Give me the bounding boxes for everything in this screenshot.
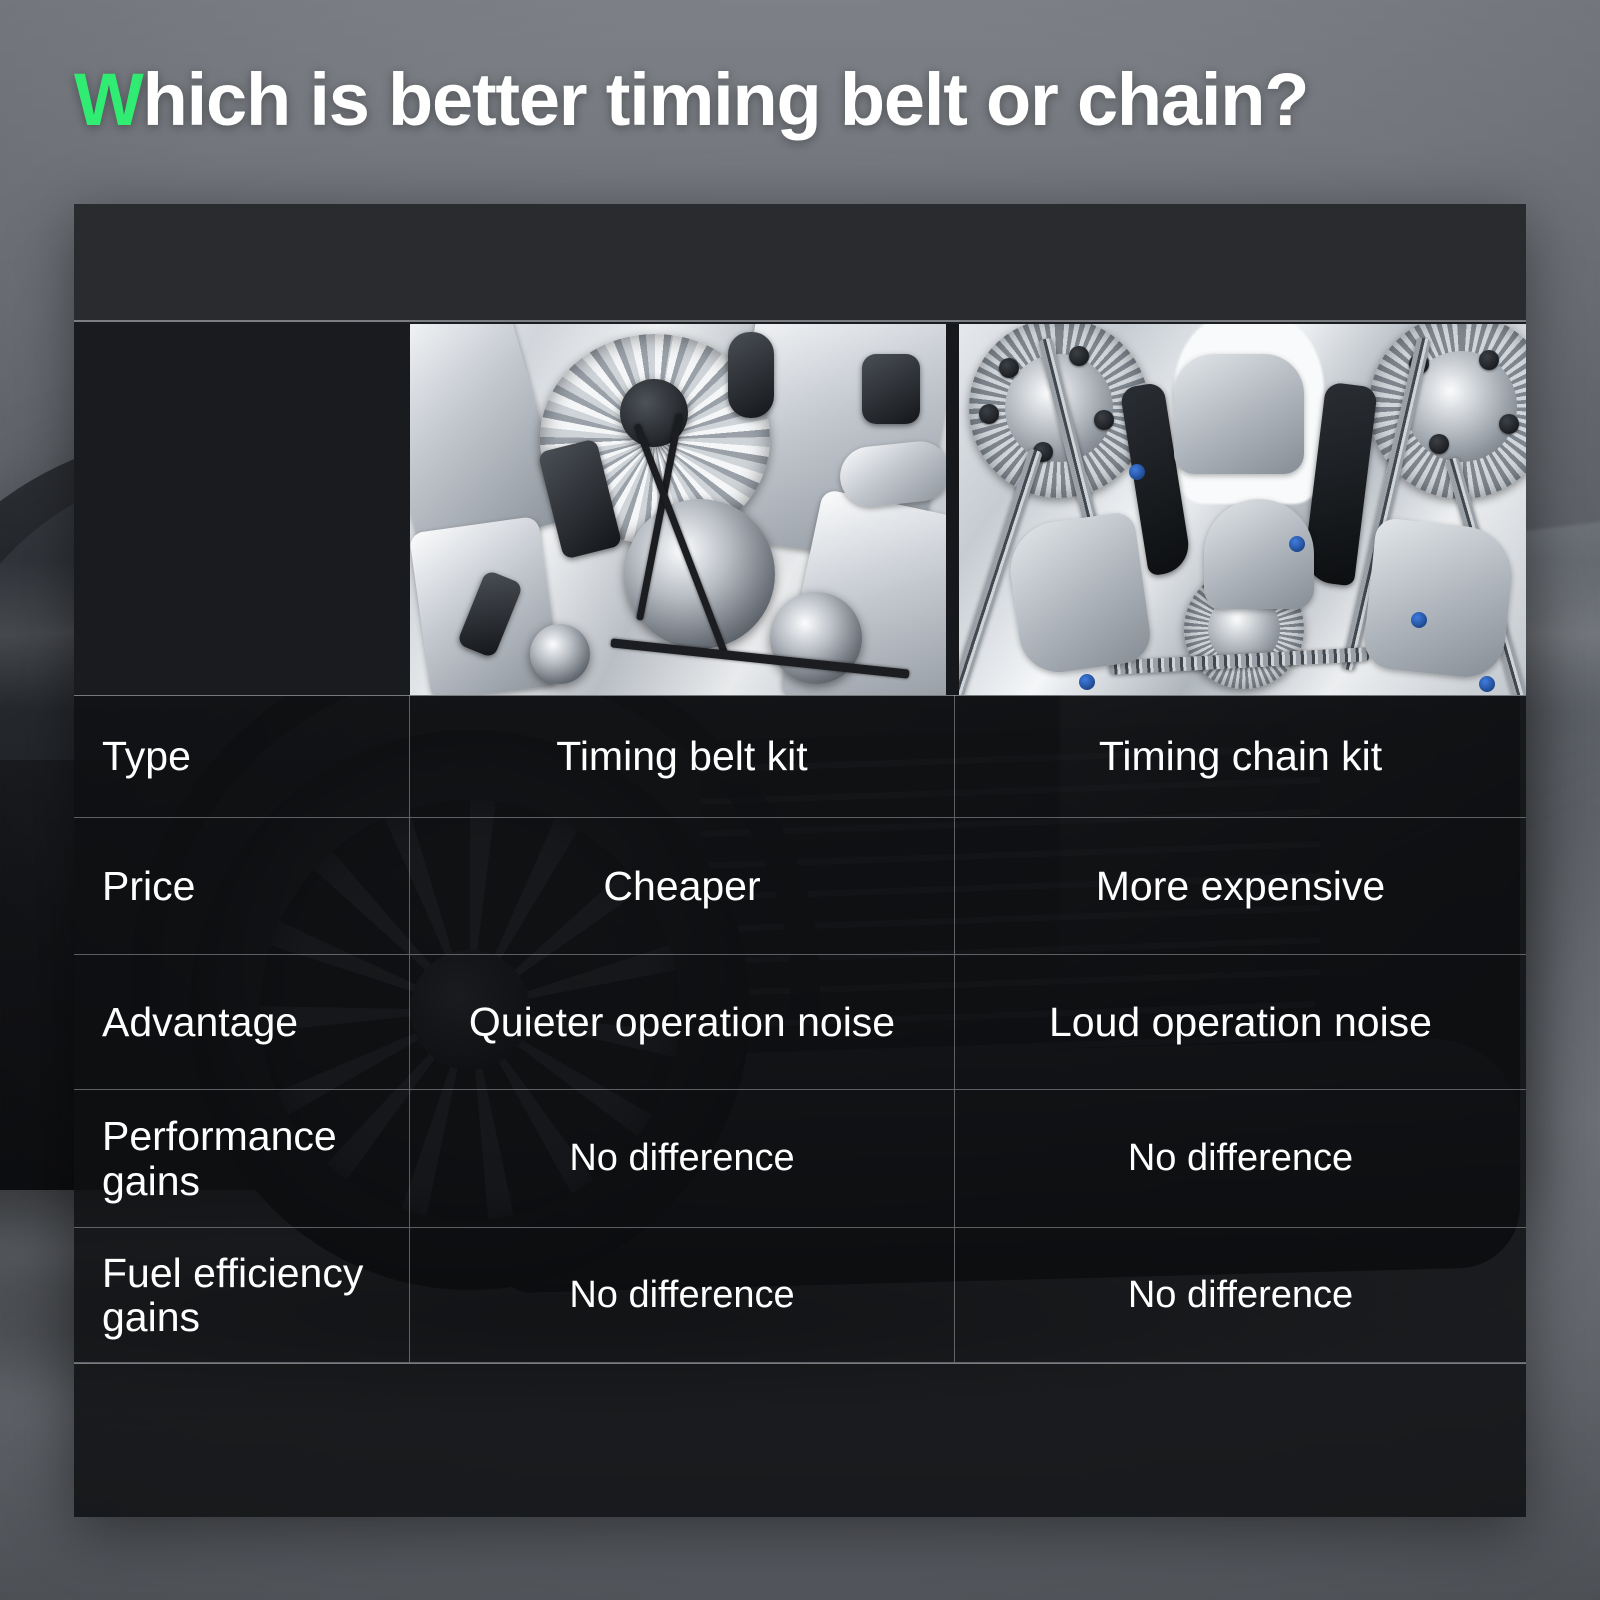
row-label: Fuel efficiency gains [74, 1228, 410, 1362]
table-row: Performance gains No difference No diffe… [74, 1090, 1526, 1228]
row-value-chain: No difference [955, 1228, 1526, 1362]
media-gap [946, 324, 959, 695]
row-value-belt: Cheaper [410, 818, 955, 954]
table-header-band [74, 204, 1526, 322]
comparison-table: Type Timing belt kit Timing chain kit Pr… [74, 204, 1526, 1517]
row-value-chain: Timing chain kit [955, 695, 1526, 817]
row-value-belt: No difference [410, 1228, 955, 1362]
row-value-belt: Quieter operation noise [410, 955, 955, 1089]
table-row: Fuel efficiency gains No difference No d… [74, 1228, 1526, 1363]
row-value-chain: No difference [955, 1090, 1526, 1227]
row-value-chain: Loud operation noise [955, 955, 1526, 1089]
row-value-belt: Timing belt kit [410, 695, 955, 817]
table-row: Price Cheaper More expensive [74, 818, 1526, 955]
grid-bottom-rule [74, 1363, 1526, 1364]
media-row [74, 324, 1526, 695]
row-label: Type [74, 695, 410, 817]
infographic-page: Which is better timing belt or chain? [0, 0, 1600, 1600]
title-rest: hich is better timing belt or chain? [143, 58, 1309, 141]
timing-belt-image [410, 324, 946, 695]
row-label: Price [74, 818, 410, 954]
page-title: Which is better timing belt or chain? [74, 57, 1534, 142]
timing-chain-image [959, 324, 1526, 695]
row-label: Performance gains [74, 1090, 410, 1227]
footer-spacer [410, 1363, 955, 1517]
footer-spacer [955, 1363, 1526, 1517]
table-row: Type Timing belt kit Timing chain kit [74, 695, 1526, 818]
row-value-belt: No difference [410, 1090, 955, 1227]
row-value-chain: More expensive [955, 818, 1526, 954]
table-footer-band [74, 1363, 1526, 1517]
footer-spacer [74, 1363, 410, 1517]
title-accent-letter: W [74, 58, 143, 141]
table-row: Advantage Quieter operation noise Loud o… [74, 955, 1526, 1090]
grid-top-rule [74, 695, 1526, 696]
comparison-grid: Type Timing belt kit Timing chain kit Pr… [74, 695, 1526, 1517]
media-row-label-spacer [74, 324, 410, 695]
row-label: Advantage [74, 955, 410, 1089]
